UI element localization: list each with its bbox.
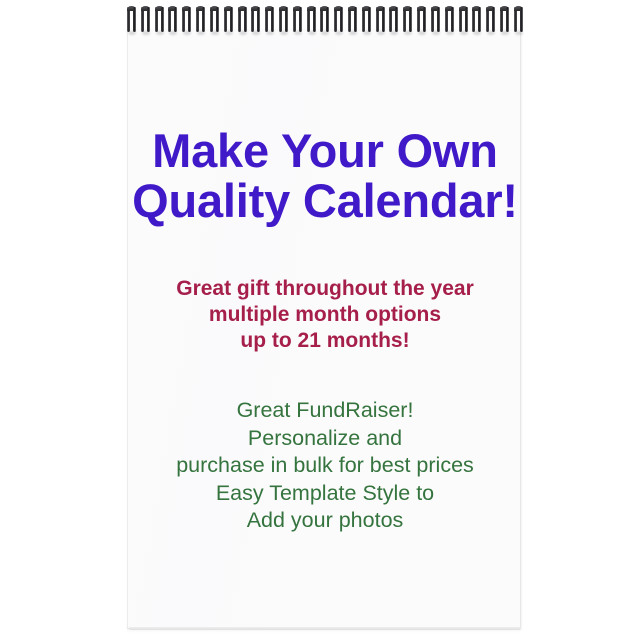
spiral-loop <box>472 6 481 33</box>
fundraiser-line-3: purchase in bulk for best prices <box>128 452 522 480</box>
spiral-loop-cap-icon <box>334 6 343 11</box>
spiral-loop <box>417 6 426 33</box>
spiral-loop <box>320 6 329 33</box>
spiral-loop-cap-icon <box>210 6 219 11</box>
spiral-loop-shadow <box>142 31 150 35</box>
spiral-loop-shadow <box>349 31 357 35</box>
spiral-loop-shadow <box>294 31 302 35</box>
title-line-2: Quality Calendar! <box>128 176 522 226</box>
cover-offer-text: Great gift throughout the year multiple … <box>128 276 522 354</box>
spiral-loop-cap-icon <box>168 6 177 11</box>
spiral-loop-cap-icon <box>403 6 412 11</box>
spiral-loop-cap-icon <box>279 6 288 11</box>
offer-line-3: up to 21 months! <box>128 328 522 354</box>
spiral-loop-shadow <box>460 31 468 35</box>
fundraiser-line-1: Great FundRaiser! <box>128 397 522 425</box>
spiral-loop <box>486 6 495 33</box>
spiral-loop <box>445 6 454 33</box>
offer-line-1: Great gift throughout the year <box>128 276 522 302</box>
spiral-loop <box>182 6 191 33</box>
spiral-loop <box>251 6 260 33</box>
spiral-loop-shadow <box>239 31 247 35</box>
spiral-loop-shadow <box>197 31 205 35</box>
spiral-loop-shadow <box>280 31 288 35</box>
offer-line-2: multiple month options <box>128 302 522 328</box>
spiral-loop <box>431 6 440 33</box>
spiral-loop <box>459 6 468 33</box>
spiral-loop-shadow <box>321 31 329 35</box>
spiral-loop-cap-icon <box>445 6 454 11</box>
spiral-loop-shadow <box>501 31 509 35</box>
spiral-wire-binding <box>127 6 523 36</box>
spiral-loop-cap-icon <box>196 6 205 11</box>
spiral-loop-cap-icon <box>431 6 440 11</box>
spiral-loop <box>168 6 177 33</box>
calendar-cover-page: Make Your Own Quality Calendar! Great gi… <box>127 29 521 629</box>
fundraiser-line-2: Personalize and <box>128 425 522 453</box>
spiral-loop-cap-icon <box>389 6 398 11</box>
spiral-loop-shadow <box>156 31 164 35</box>
spiral-loop-cap-icon <box>500 6 509 11</box>
spiral-loop <box>376 6 385 33</box>
spiral-loop <box>224 6 233 33</box>
spiral-loop-shadow <box>183 31 191 35</box>
cover-title: Make Your Own Quality Calendar! <box>128 126 522 226</box>
spiral-loop-shadow <box>169 31 177 35</box>
spiral-loop <box>127 6 136 33</box>
spiral-loop-shadow <box>404 31 412 35</box>
spiral-loop-cap-icon <box>472 6 481 11</box>
spiral-loop-cap-icon <box>417 6 426 11</box>
spiral-loop-cap-icon <box>265 6 274 11</box>
spiral-loop-cap-icon <box>320 6 329 11</box>
spiral-loop-cap-icon <box>293 6 302 11</box>
spiral-loop-shadow <box>377 31 385 35</box>
spiral-loop-shadow <box>266 31 274 35</box>
spiral-loop <box>348 6 357 33</box>
spiral-loop-shadow <box>432 31 440 35</box>
spiral-loop-shadow <box>363 31 371 35</box>
spiral-loop <box>155 6 164 33</box>
spiral-loop-shadow <box>308 31 316 35</box>
spiral-loop-cap-icon <box>514 6 523 11</box>
spiral-loop-cap-icon <box>348 6 357 11</box>
spiral-loop-shadow <box>446 31 454 35</box>
spiral-loop-shadow <box>390 31 398 35</box>
fundraiser-line-5: Add your photos <box>128 507 522 535</box>
spiral-loop <box>141 6 150 33</box>
spiral-loop <box>196 6 205 33</box>
title-line-1: Make Your Own <box>128 126 522 176</box>
spiral-loop <box>293 6 302 33</box>
spiral-loop-cap-icon <box>459 6 468 11</box>
spiral-loop-cap-icon <box>155 6 164 11</box>
spiral-loop-cap-icon <box>307 6 316 11</box>
spiral-loop <box>362 6 371 33</box>
spiral-loop <box>279 6 288 33</box>
spiral-loop-cap-icon <box>224 6 233 11</box>
product-photo-canvas: Make Your Own Quality Calendar! Great gi… <box>0 0 644 644</box>
spiral-loop-cap-icon <box>362 6 371 11</box>
spiral-loop-cap-icon <box>141 6 150 11</box>
page-bottom-edge <box>129 627 521 630</box>
spiral-loop-cap-icon <box>127 6 136 11</box>
spiral-loop <box>238 6 247 33</box>
spiral-loop <box>307 6 316 33</box>
spiral-loop <box>500 6 509 33</box>
spiral-loop-cap-icon <box>376 6 385 11</box>
spiral-loop-shadow <box>225 31 233 35</box>
spiral-loop <box>514 6 523 33</box>
spiral-loop <box>389 6 398 33</box>
cover-fundraiser-text: Great FundRaiser! Personalize and purcha… <box>128 397 522 535</box>
spiral-loop <box>334 6 343 33</box>
spiral-loop <box>210 6 219 33</box>
spiral-loop-cap-icon <box>251 6 260 11</box>
spiral-loop-shadow <box>515 31 523 35</box>
spiral-loop-shadow <box>252 31 260 35</box>
spiral-loop-shadow <box>418 31 426 35</box>
spiral-loop <box>403 6 412 33</box>
fundraiser-line-4: Easy Template Style to <box>128 480 522 508</box>
spiral-loop-cap-icon <box>182 6 191 11</box>
spiral-loop <box>265 6 274 33</box>
spiral-loop-shadow <box>335 31 343 35</box>
spiral-loop-cap-icon <box>486 6 495 11</box>
spiral-loop-shadow <box>211 31 219 35</box>
spiral-loop-shadow <box>128 31 136 35</box>
spiral-loop-cap-icon <box>238 6 247 11</box>
spiral-loop-shadow <box>473 31 481 35</box>
spiral-loop-shadow <box>487 31 495 35</box>
